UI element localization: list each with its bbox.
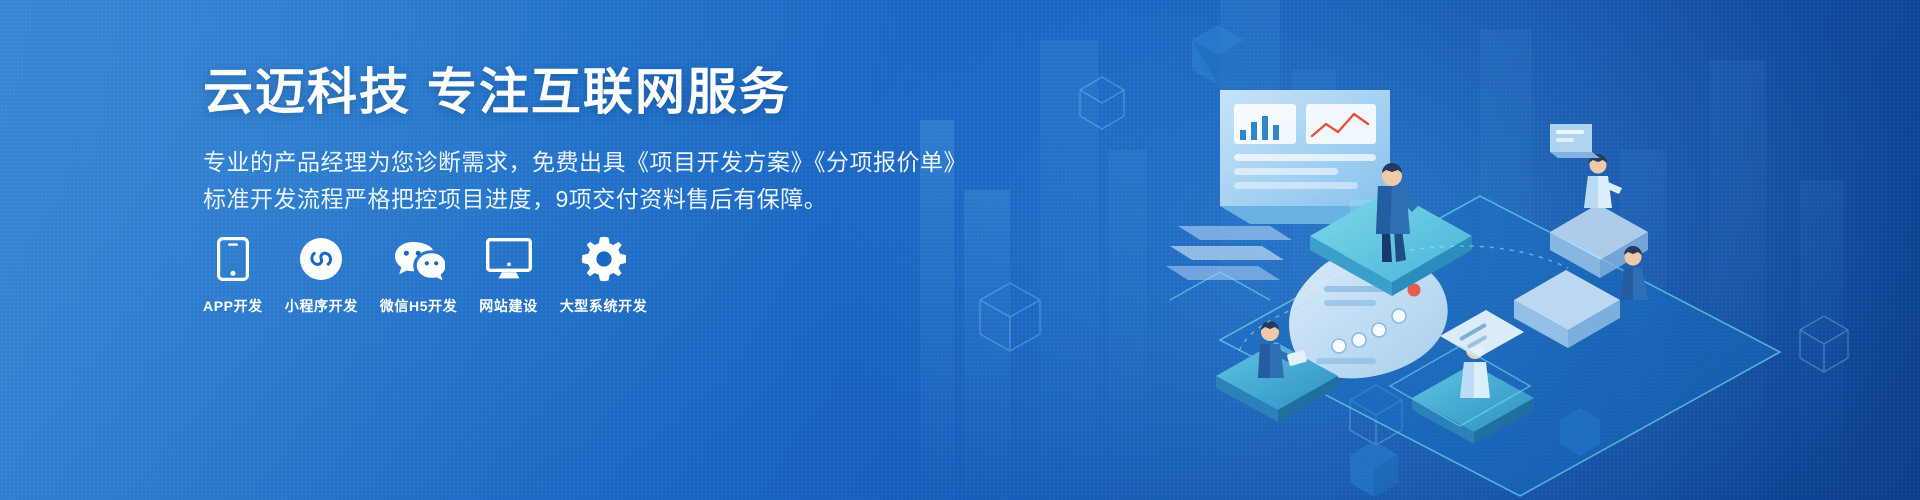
service-label-wechat: 微信H5开发	[380, 296, 458, 316]
service-list: APP开发 小程序开发 微信	[203, 231, 647, 316]
gear-icon	[581, 231, 627, 287]
service-label-large-system: 大型系统开发	[560, 296, 648, 316]
service-item-mini-program[interactable]: 小程序开发	[285, 231, 358, 316]
subtitle-line-2: 标准开发流程严格把控项目进度，9项交付资料售后有保障。	[203, 181, 1103, 218]
mobile-phone-icon	[217, 231, 249, 287]
service-item-app[interactable]: APP开发	[203, 231, 263, 316]
service-item-website[interactable]: 网站建设	[479, 231, 537, 316]
service-label-website: 网站建设	[479, 296, 537, 316]
hero-banner: 云迈科技 专注互联网服务 专业的产品经理为您诊断需求，免费出具《项目开发方案》《…	[0, 0, 1920, 500]
wechat-icon	[393, 231, 445, 287]
mini-program-icon	[299, 231, 343, 287]
service-item-large-system[interactable]: 大型系统开发	[560, 231, 648, 316]
service-label-mini-program: 小程序开发	[285, 296, 358, 316]
service-label-app: APP开发	[203, 296, 263, 316]
banner-subtitle: 专业的产品经理为您诊断需求，免费出具《项目开发方案》《分项报价单》 标准开发流程…	[203, 144, 1103, 218]
banner-content: 云迈科技 专注互联网服务 专业的产品经理为您诊断需求，免费出具《项目开发方案》《…	[203, 62, 1103, 218]
subtitle-line-1: 专业的产品经理为您诊断需求，免费出具《项目开发方案》《分项报价单》	[203, 144, 1103, 181]
monitor-icon	[486, 231, 532, 287]
page-title: 云迈科技 专注互联网服务	[203, 62, 1103, 122]
service-item-wechat[interactable]: 微信H5开发	[380, 231, 458, 316]
